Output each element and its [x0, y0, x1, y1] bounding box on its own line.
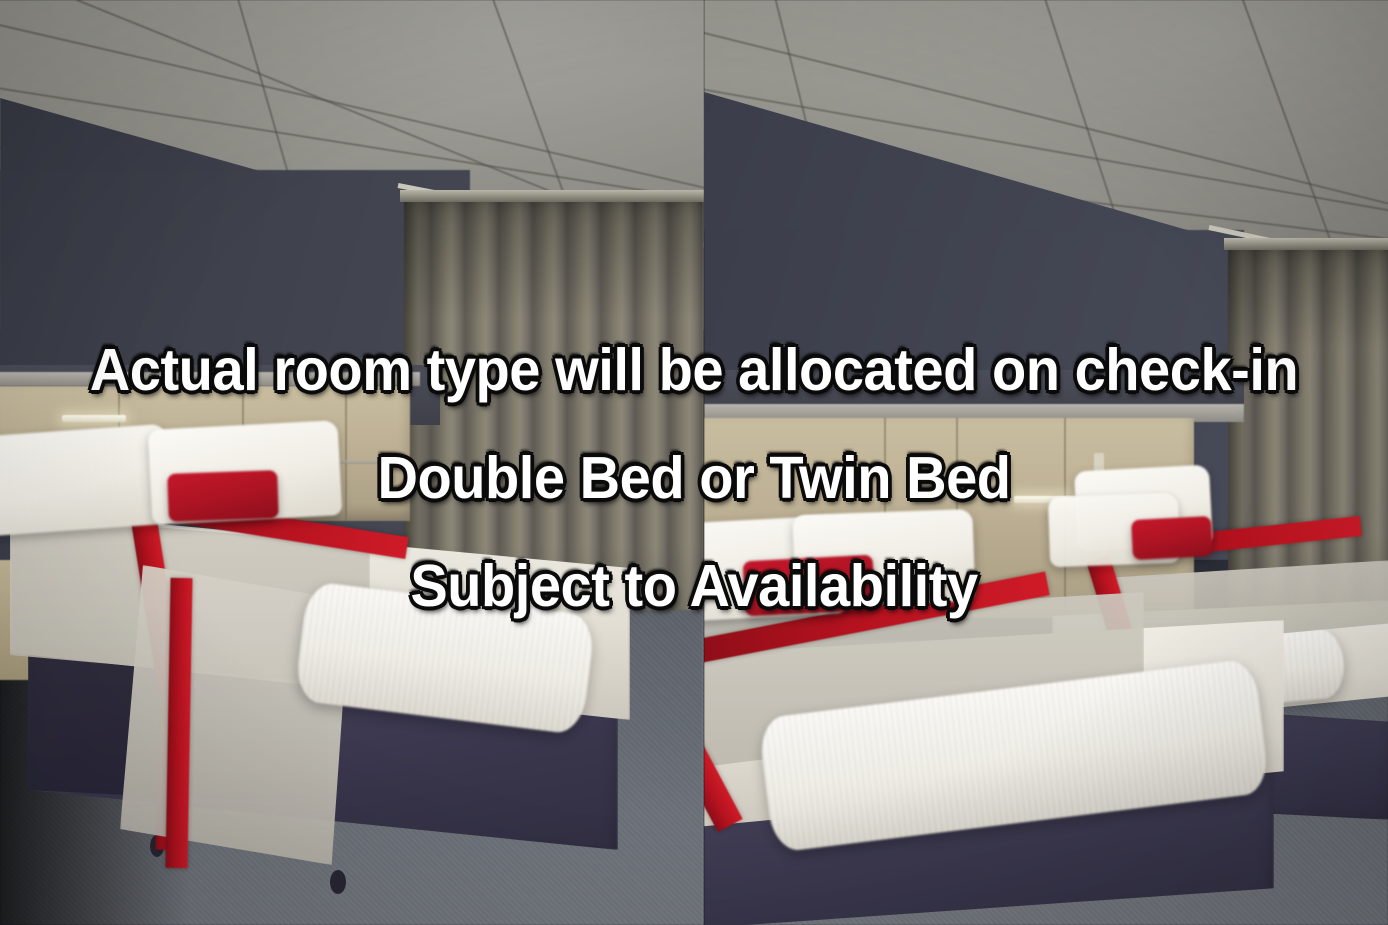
panel-left-double-bed-room [0, 0, 704, 925]
red-cushion-far-twin [1131, 516, 1213, 560]
red-cushion-left-bed [167, 470, 279, 522]
bed-foot-left-b [330, 870, 346, 894]
pillow-left-a [0, 424, 172, 537]
panel-divider [702, 0, 705, 925]
headboard-rail-left [0, 372, 420, 386]
curtain-rail-right [1224, 238, 1388, 250]
red-cushion-near-twin [743, 555, 876, 617]
panel-right-twin-bed-room [704, 0, 1388, 925]
image-canvas: Actual room type will be allocated on ch… [0, 0, 1388, 925]
curtain-rail-left [400, 190, 704, 202]
